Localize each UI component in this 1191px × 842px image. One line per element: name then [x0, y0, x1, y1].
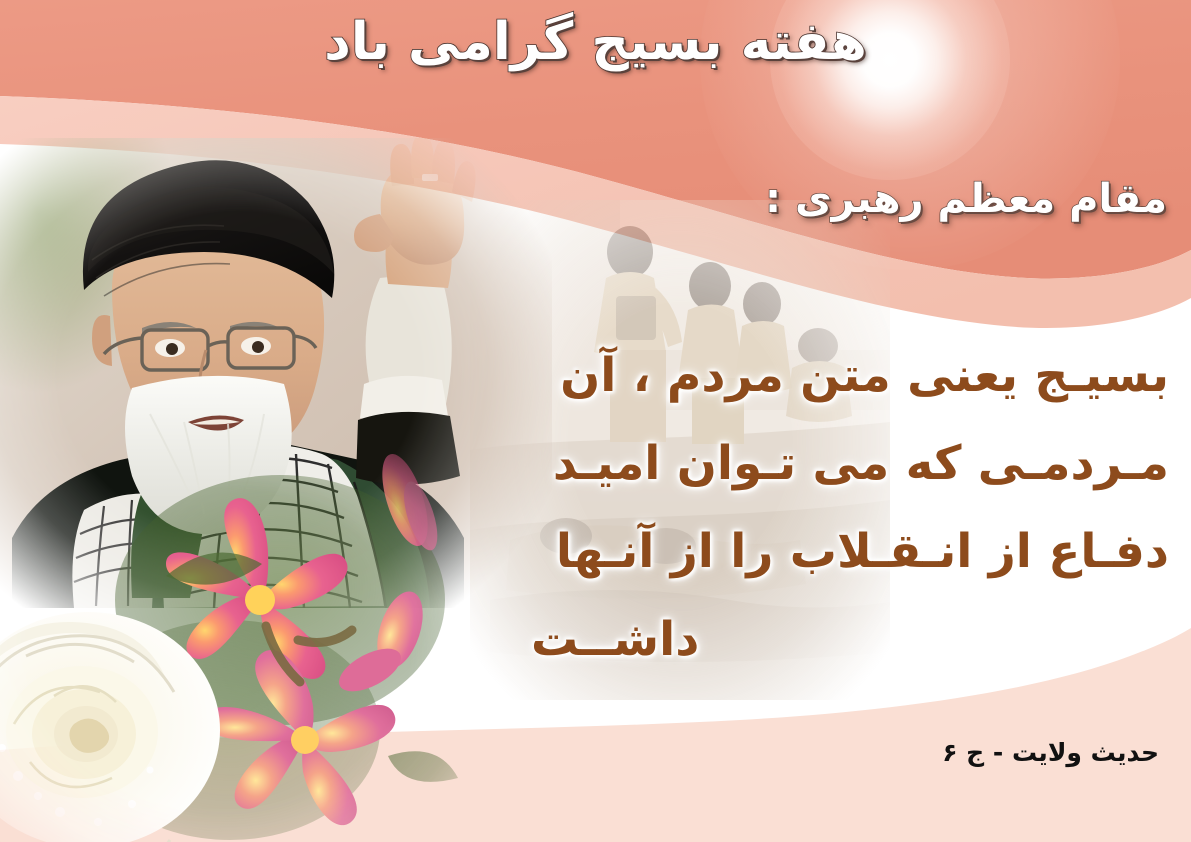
poster-canvas: هفته بسیج گرامی باد مقام معظم رهبری : بس…: [0, 0, 1191, 842]
quote-line-1: بسیـج یعنی متن مردم ، آن: [489, 352, 1169, 400]
flower-bouquet: [0, 430, 480, 842]
page-title: هفته بسیج گرامی باد: [0, 12, 1191, 72]
quote-block: بسیـج یعنی متن مردم ، آن مـردمـی که می ت…: [489, 352, 1169, 664]
quote-line-3: دفـاع از انـقـلاب را از آنـها: [489, 528, 1169, 576]
speaker-label: مقام معظم رهبری :: [765, 176, 1167, 222]
quote-line-4: داشــت: [489, 616, 1169, 664]
source-citation: حدیث ولایت - ج ۶: [942, 738, 1159, 767]
quote-line-2: مـردمـی که می تـوان امیـد: [489, 440, 1169, 488]
